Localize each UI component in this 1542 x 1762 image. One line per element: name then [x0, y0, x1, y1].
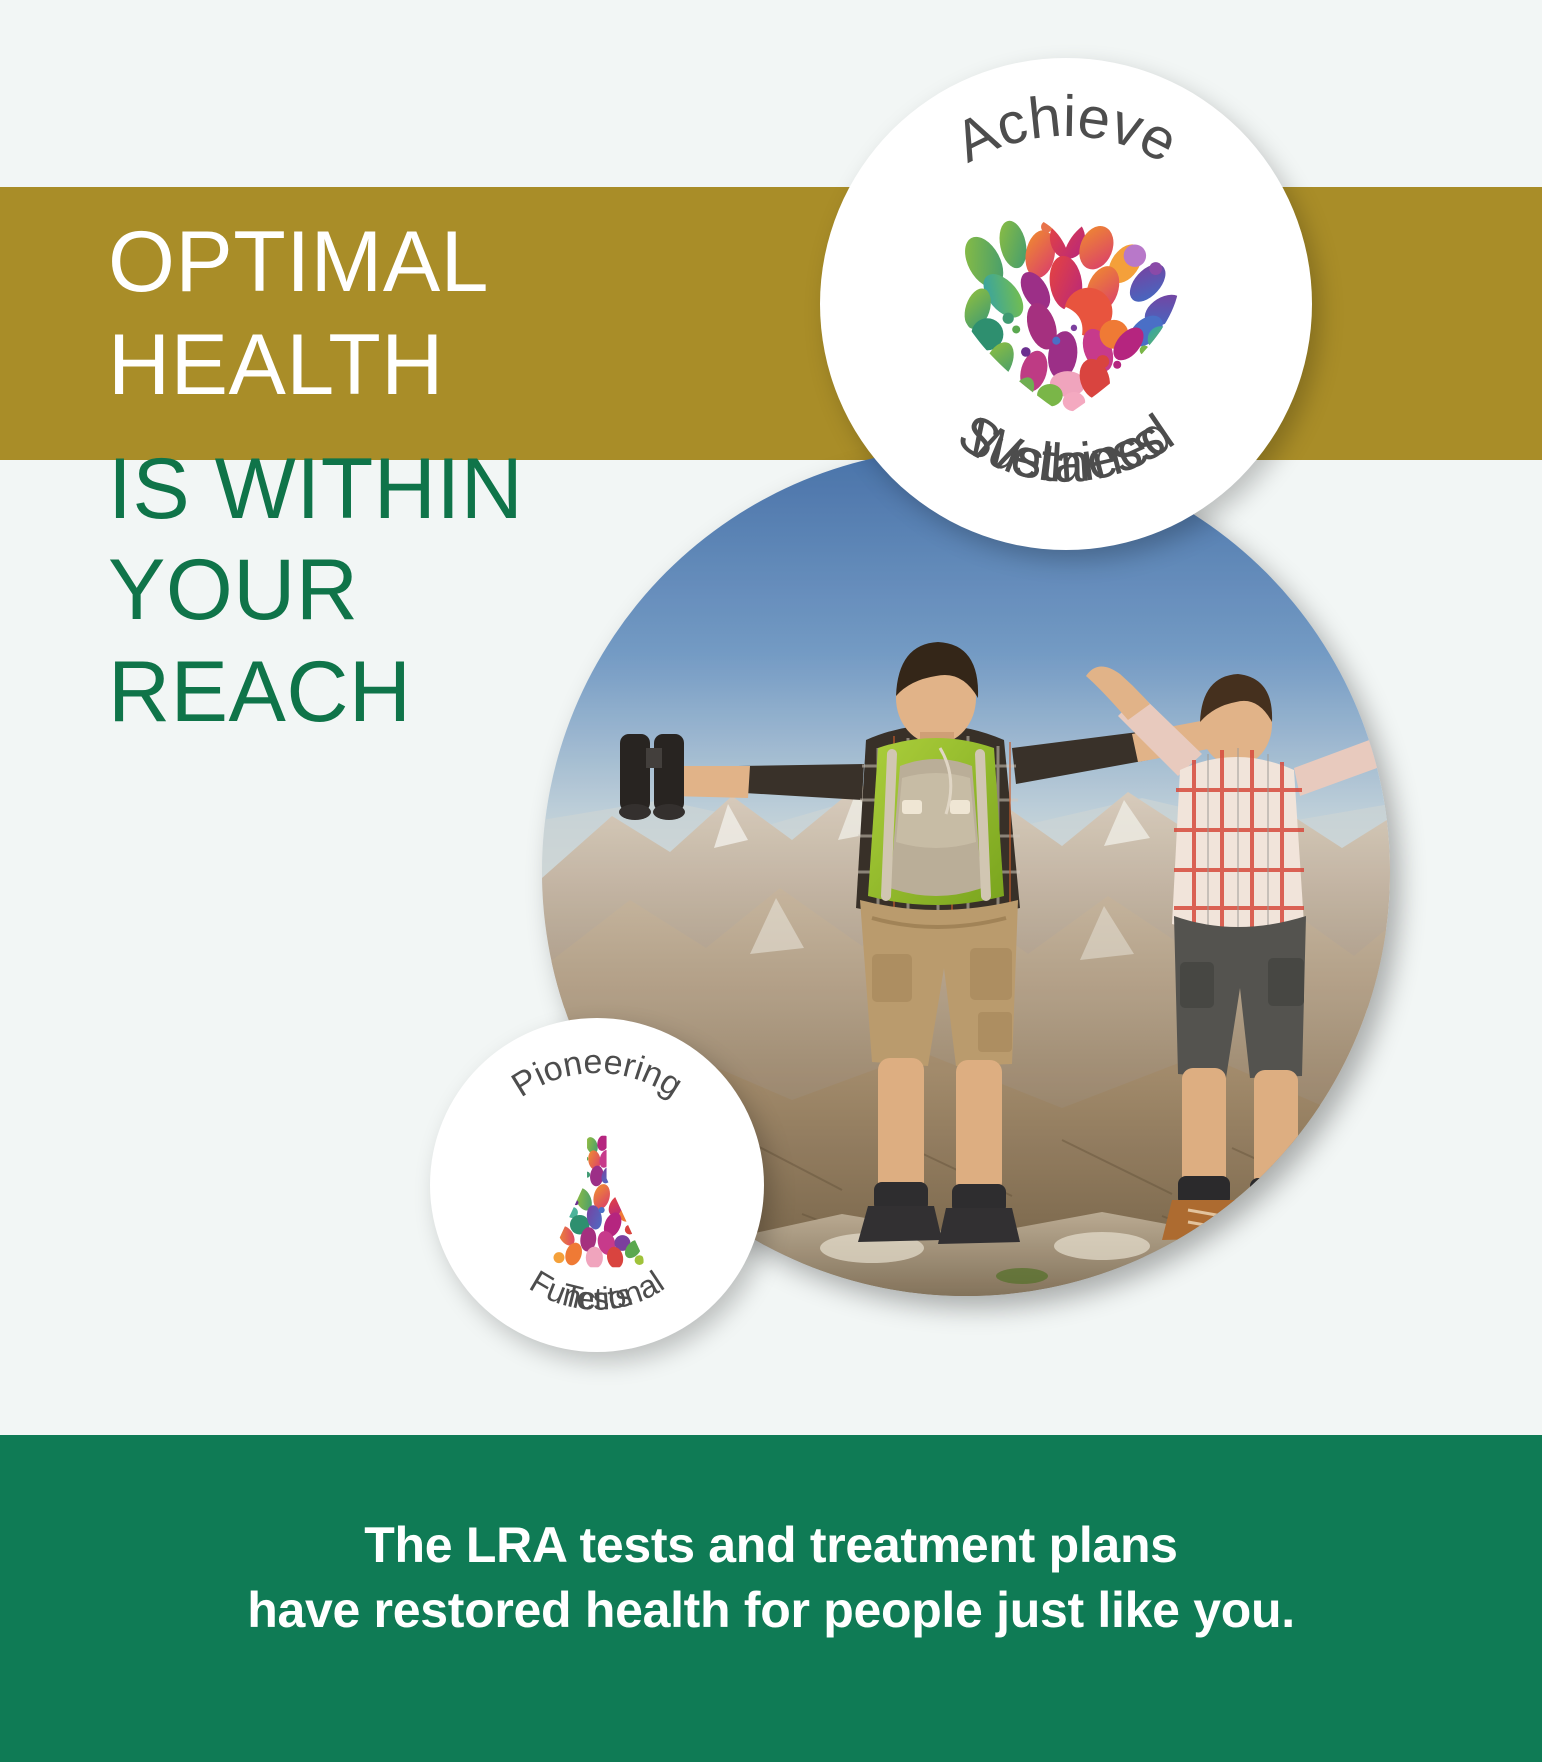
tagline: The LRA tests and treatment plans have r…	[0, 1513, 1542, 1643]
badge-achieve-top-label: Achieve	[945, 84, 1188, 176]
promo-banner: OPTIMAL HEALTH IS WITHIN YOUR REACH Achi…	[0, 0, 1542, 1762]
decorative-flask-icon	[530, 1132, 664, 1272]
headline-line-4: YOUR	[108, 540, 748, 641]
badge-pioneering-functional-tests: Pioneering Functional Tests	[430, 1018, 764, 1352]
badge-achieve-sustained-wellness: Achieve Sustained Wellness	[820, 58, 1312, 550]
headline-line-5: REACH	[108, 642, 748, 743]
page-title: OPTIMAL HEALTH IS WITHIN YOUR REACH	[108, 212, 748, 743]
decorative-heart-icon	[938, 206, 1194, 422]
tagline-line-1: The LRA tests and treatment plans	[0, 1513, 1542, 1578]
badge-pioneering-top-label: Pioneering	[505, 1043, 689, 1105]
headline-line-2: HEALTH	[108, 315, 748, 416]
headline-line-1: OPTIMAL	[108, 212, 748, 313]
headline-line-3: IS WITHIN	[108, 439, 748, 540]
tagline-line-2: have restored health for people just lik…	[0, 1578, 1542, 1643]
badge-pioneering-bottom-line2: Tests	[559, 1276, 636, 1317]
